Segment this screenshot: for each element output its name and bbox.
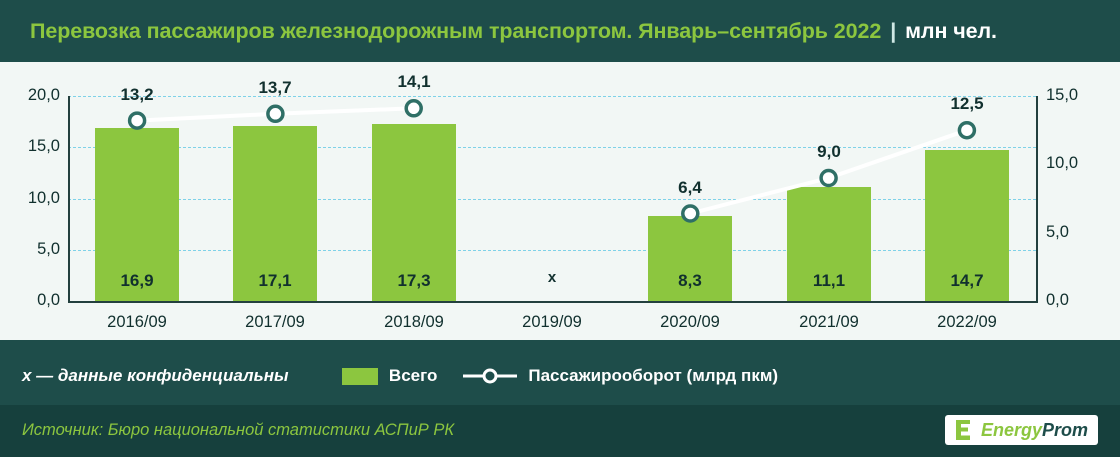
title-separator: | (890, 19, 896, 43)
source-text: Источник: Бюро национальной статистики А… (22, 421, 454, 440)
chart-canvas: 0,05,010,015,020,00,05,010,015,016,92016… (0, 62, 1120, 340)
line-marker (268, 106, 283, 121)
line-marker-icon (463, 368, 517, 384)
page-title-main: Перевозка пассажиров железнодорожным тра… (30, 19, 881, 43)
source-bar: Источник: Бюро национальной статистики А… (0, 405, 1120, 457)
line-marker (683, 206, 698, 221)
line-marker (130, 113, 145, 128)
title-unit: млн чел. (905, 19, 997, 43)
line-value-label: 9,0 (779, 142, 879, 162)
energy-bolt-icon (953, 419, 973, 441)
line-value-label: 13,7 (225, 78, 325, 98)
brand-name: EnergyProm (981, 420, 1088, 441)
line-marker (821, 171, 836, 186)
chart-legend: Всего Пассажирооборот (млрд пкм) (0, 355, 1120, 397)
chart-title-bar: Перевозка пассажиров железнодорожным тра… (0, 0, 1120, 62)
legend-item-label: Пассажирооборот (млрд пкм) (528, 366, 778, 386)
chart-plot-area: 0,05,010,015,020,00,05,010,015,016,92016… (0, 62, 1120, 340)
legend-item-total[interactable]: Всего (342, 366, 437, 386)
line-value-label: 13,2 (87, 85, 187, 105)
brand-logo[interactable]: EnergyProm (945, 415, 1098, 445)
page-title: Перевозка пассажиров железнодорожным тра… (30, 19, 997, 44)
legend-item-passenger-turnover[interactable]: Пассажирооборот (млрд пкм) (463, 366, 778, 386)
line-marker (406, 101, 421, 116)
line-value-label: 14,1 (364, 72, 464, 92)
line-marker (959, 123, 974, 138)
bar-swatch-icon (342, 368, 378, 385)
legend-item-label: Всего (389, 366, 437, 386)
brand-name-suffix: Prom (1042, 420, 1088, 440)
line-value-label: 6,4 (640, 178, 740, 198)
brand-name-prefix: Energy (981, 420, 1042, 440)
line-value-label: 12,5 (917, 94, 1017, 114)
